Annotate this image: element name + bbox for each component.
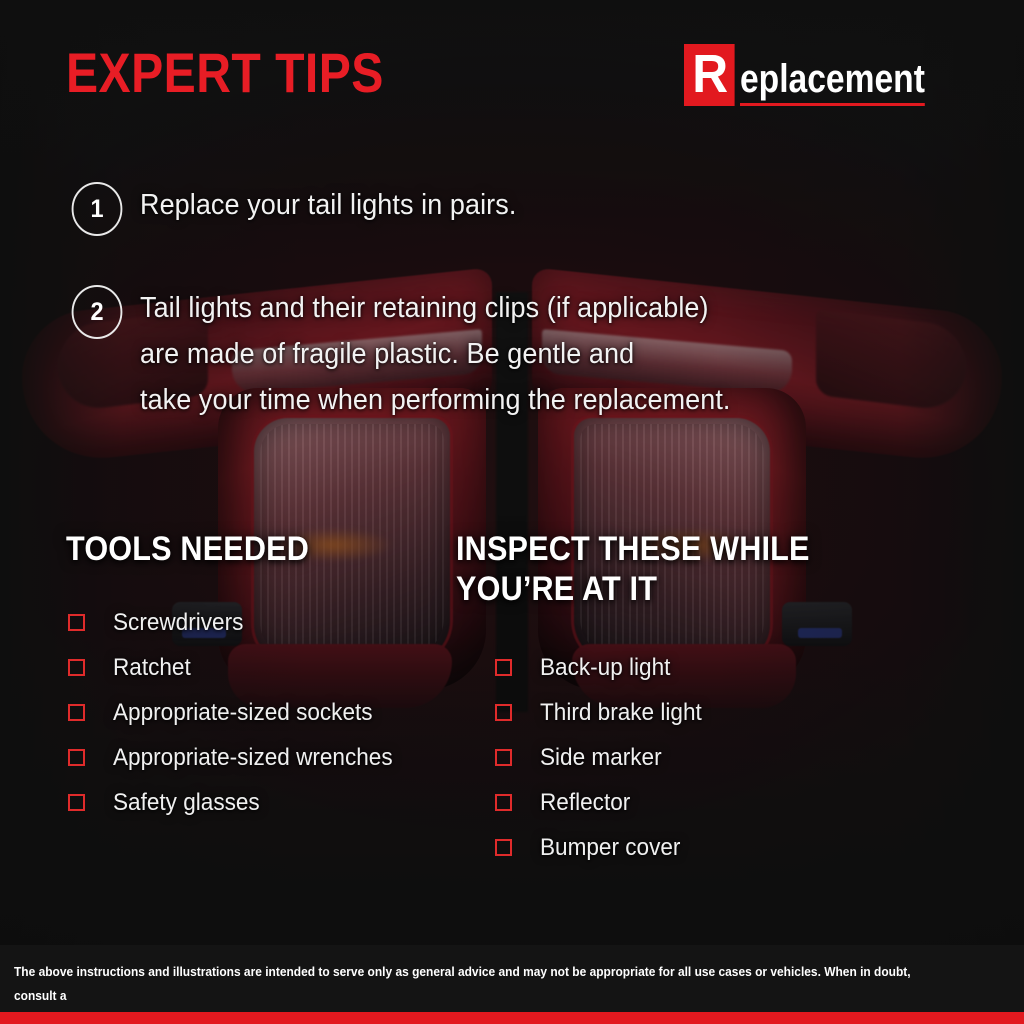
list-item-label: Side marker [540,744,662,772]
tip-number-badge: 1 [72,182,123,236]
list-item: Bumper cover [495,825,712,870]
checkbox-square-icon [68,614,85,631]
tip-number-badge: 2 [72,285,123,339]
list-item-label: Appropriate-sized sockets [113,699,373,727]
checkbox-square-icon [495,794,512,811]
tools-needed-list: Screwdrivers Ratchet Appropriate-sized s… [68,600,410,825]
logo-wordmark: eplacement [740,57,925,106]
checkbox-square-icon [495,659,512,676]
expert-tips-card: EXPERT TIPS R eplacement 1 Replace your … [0,0,1024,1024]
footer-disclaimer-band: The above instructions and illustrations… [0,945,1024,1012]
checkbox-square-icon [68,749,85,766]
tip-item-1: 1 Replace your tail lights in pairs. [70,182,545,236]
tools-needed-heading: TOOLS NEEDED [66,529,309,569]
checkbox-square-icon [68,704,85,721]
list-item: Safety glasses [68,780,410,825]
tip-text: Replace your tail lights in pairs. [140,182,516,228]
checkbox-square-icon [495,839,512,856]
tip-text: Tail lights and their retaining clips (i… [140,285,731,423]
list-item: Third brake light [495,690,712,735]
list-item: Ratchet [68,645,410,690]
checkbox-square-icon [495,704,512,721]
checkbox-square-icon [495,749,512,766]
inspect-these-heading: INSPECT THESE WHILE YOU’RE AT IT [456,529,810,609]
content-layer: EXPERT TIPS R eplacement 1 Replace your … [0,0,1024,1024]
page-title: EXPERT TIPS [66,45,384,101]
bottom-accent-bar [0,1012,1024,1024]
list-item: Screwdrivers [68,600,410,645]
checkbox-square-icon [68,794,85,811]
replacement-logo: R eplacement [684,44,960,106]
checkbox-square-icon [68,659,85,676]
list-item: Appropriate-sized sockets [68,690,410,735]
list-item: Back-up light [495,645,712,690]
list-item-label: Reflector [540,789,630,817]
list-item-label: Back-up light [540,654,670,682]
list-item-label: Third brake light [540,699,702,727]
list-item-label: Bumper cover [540,834,680,862]
list-item: Reflector [495,780,712,825]
list-item-label: Appropriate-sized wrenches [113,744,393,772]
list-item: Appropriate-sized wrenches [68,735,410,780]
list-item-label: Ratchet [113,654,191,682]
logo-initial: R [684,44,735,106]
inspect-these-list: Back-up light Third brake light Side mar… [495,645,712,870]
list-item-label: Safety glasses [113,789,260,817]
tip-item-2: 2 Tail lights and their retaining clips … [70,285,775,423]
list-item-label: Screwdrivers [113,609,243,637]
list-item: Side marker [495,735,712,780]
